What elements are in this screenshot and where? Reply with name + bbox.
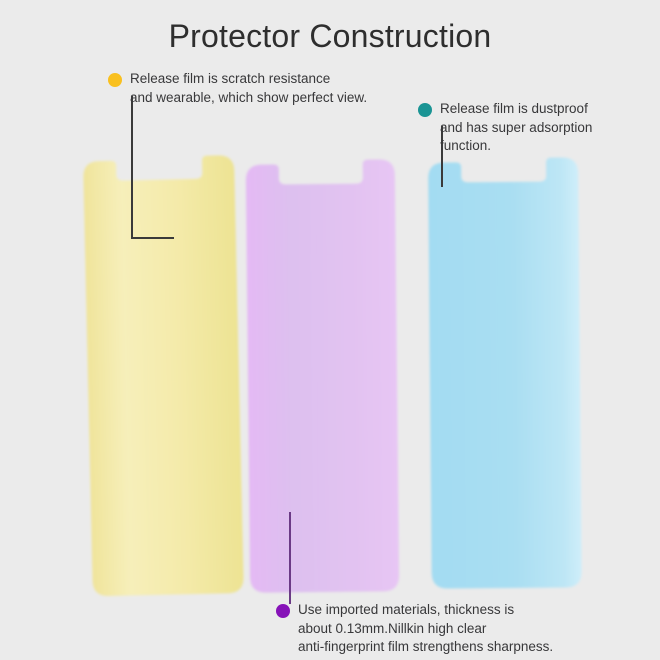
film-layer-yellow (83, 155, 244, 596)
film-layer-purple (246, 159, 400, 593)
callout-yellow-release-film: Release film is scratch resistance and w… (108, 70, 408, 107)
diagram-canvas: Protector Construction (0, 0, 660, 660)
callout-purple-text: Use imported materials, thickness is abo… (298, 601, 636, 657)
callout-teal-text: Release film is dustproof and has super … (440, 100, 653, 156)
callout-teal-release-film: Release film is dustproof and has super … (418, 100, 653, 156)
bullet-dot-teal-icon (418, 103, 432, 117)
callout-yellow-text: Release film is scratch resistance and w… (130, 70, 408, 107)
leader-line-yellow-horizontal (131, 237, 174, 239)
leader-line-purple-vertical (289, 512, 291, 604)
bullet-dot-yellow-icon (108, 73, 122, 87)
film-layer-blue (428, 157, 582, 588)
bullet-dot-purple-icon (276, 604, 290, 618)
leader-line-yellow-vertical (131, 96, 133, 239)
callout-purple-protector-film: Use imported materials, thickness is abo… (276, 601, 636, 657)
